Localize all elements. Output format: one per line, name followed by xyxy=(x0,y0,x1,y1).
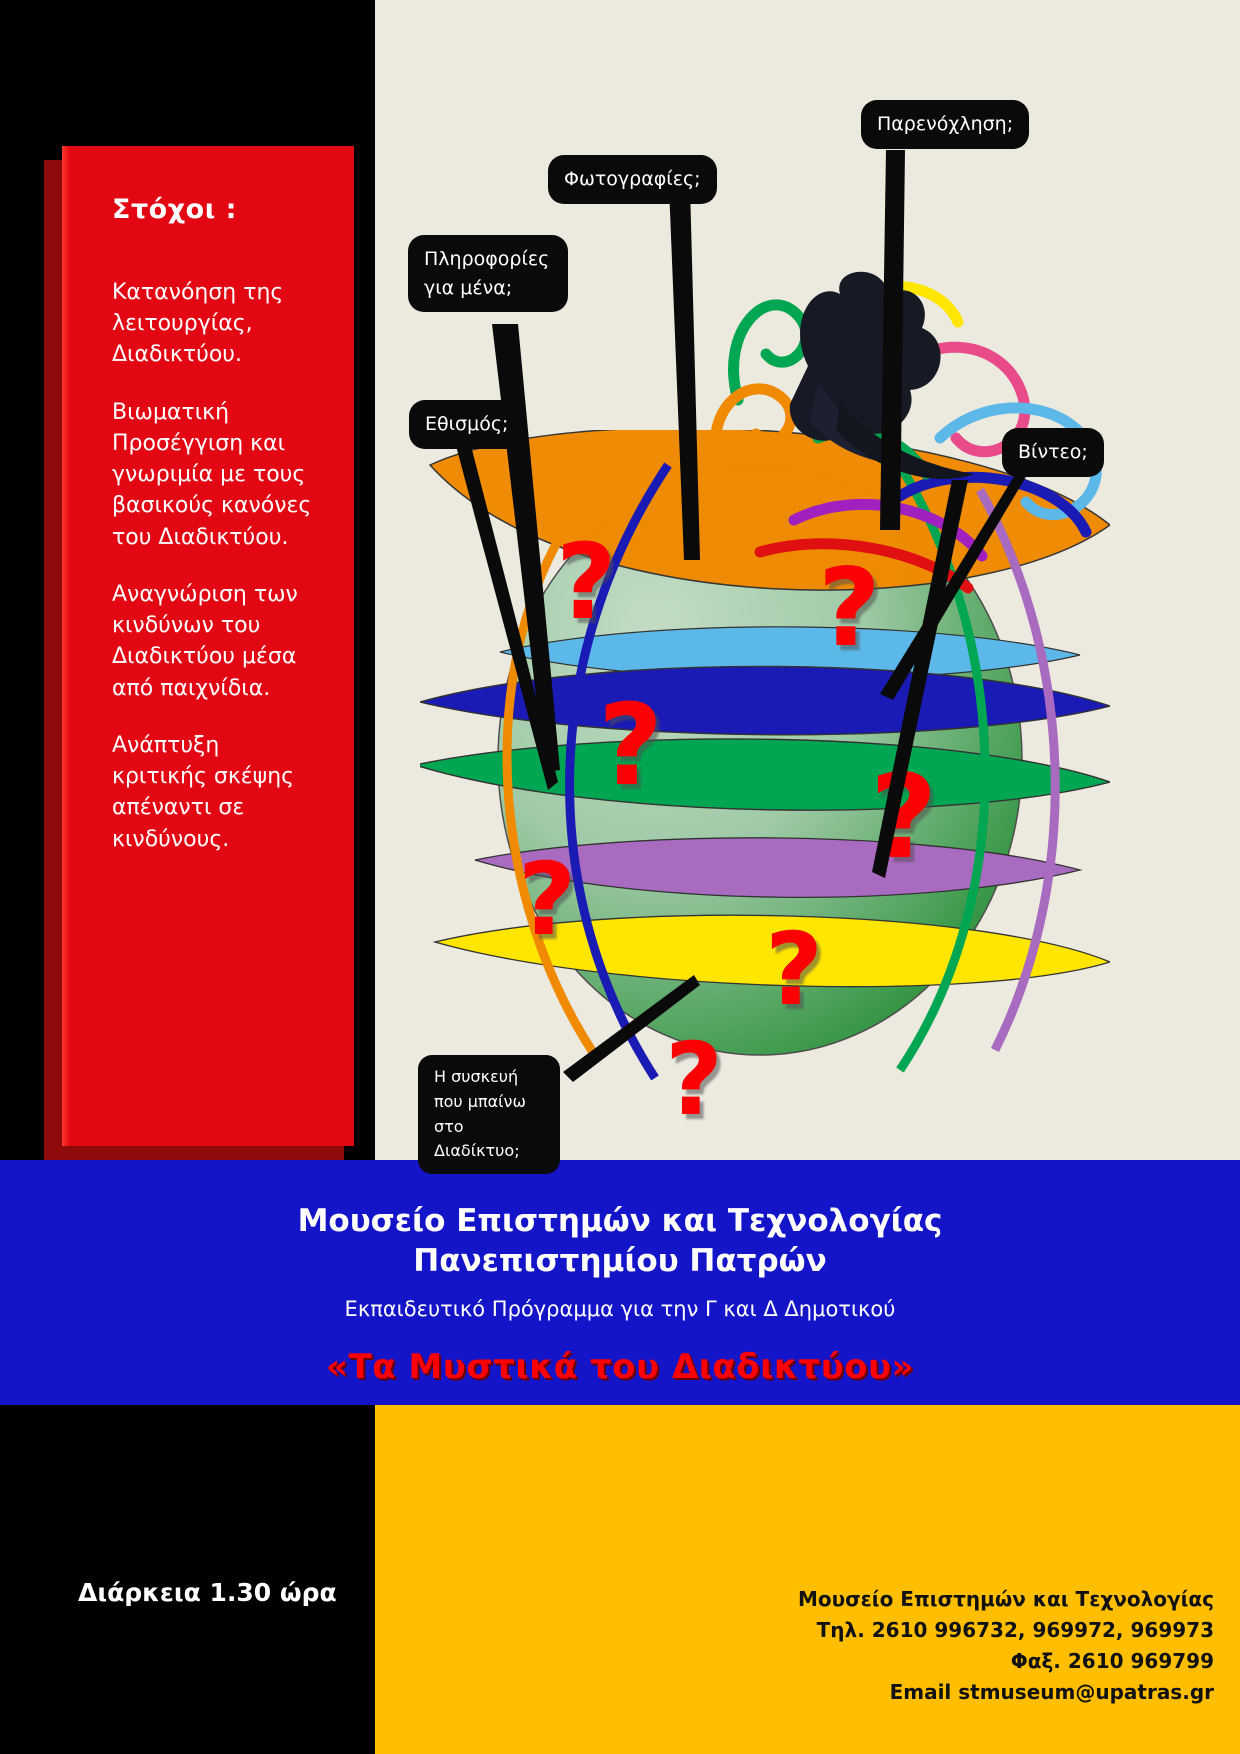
contact-line: Τηλ. 2610 996732, 969972, 969973 xyxy=(694,1615,1214,1646)
callout-device: Η συσκευή που μπαίνω στο Διαδίκτυο; xyxy=(418,1055,560,1174)
callout-info-about-me: Πληροφορίες για μένα; xyxy=(408,235,568,312)
leader-line-right-mid xyxy=(872,480,968,878)
duration-label: Διάρκεια 1.30 ώρα xyxy=(78,1578,378,1607)
contact-line-email: Email stmuseum@upatras.gr xyxy=(694,1677,1214,1708)
callout-harassment: Παρενόχληση; xyxy=(861,100,1029,149)
program-name: «Τα Μυστικά του Διαδικτύου» xyxy=(0,1347,1240,1387)
program-subtitle: Εκπαιδευτικό Πρόγραμμα για την Γ και Δ Δ… xyxy=(0,1297,1240,1321)
objective-item: Ανάπτυξη κριτικής σκέψης απέναντι σε κιν… xyxy=(112,730,317,855)
museum-title-line1: Μουσείο Επιστημών και Τεχνολογίας xyxy=(0,1202,1240,1242)
callout-video: Βίντεο; xyxy=(1002,428,1104,477)
museum-title: Μουσείο Επιστημών και Τεχνολογίας Πανεπι… xyxy=(0,1202,1240,1281)
objective-item: Κατανόηση της λειτουργίας, Διαδικτύου. xyxy=(112,277,317,371)
museum-title-line2: Πανεπιστημίου Πατρών xyxy=(0,1242,1240,1282)
leader-line-photos xyxy=(669,186,700,560)
poster: ? ? ? ? ? ? ? xyxy=(0,0,1240,1754)
callout-addiction: Εθισμός; xyxy=(409,400,524,449)
objectives-title: Στόχοι : xyxy=(112,194,317,225)
objective-item: Αναγνώριση των κινδύνων του Διαδικτύου μ… xyxy=(112,579,317,704)
callout-photos: Φωτογραφίες; xyxy=(548,155,717,204)
contact-block: Μουσείο Επιστημών και Τεχνολογίας Τηλ. 2… xyxy=(694,1584,1214,1708)
contact-line: Μουσείο Επιστημών και Τεχνολογίας xyxy=(694,1584,1214,1615)
objective-item: Βιωματική Προσέγγιση και γνωριμία με του… xyxy=(112,397,317,553)
leader-line-device xyxy=(563,975,700,1082)
contact-line: Φαξ. 2610 969799 xyxy=(694,1646,1214,1677)
objectives-panel: Στόχοι : Κατανόηση της λειτουργίας, Διαδ… xyxy=(62,146,354,1146)
footer-blue-band: Μουσείο Επιστημών και Τεχνολογίας Πανεπι… xyxy=(0,1160,1240,1405)
leader-line-harassment xyxy=(880,150,905,530)
